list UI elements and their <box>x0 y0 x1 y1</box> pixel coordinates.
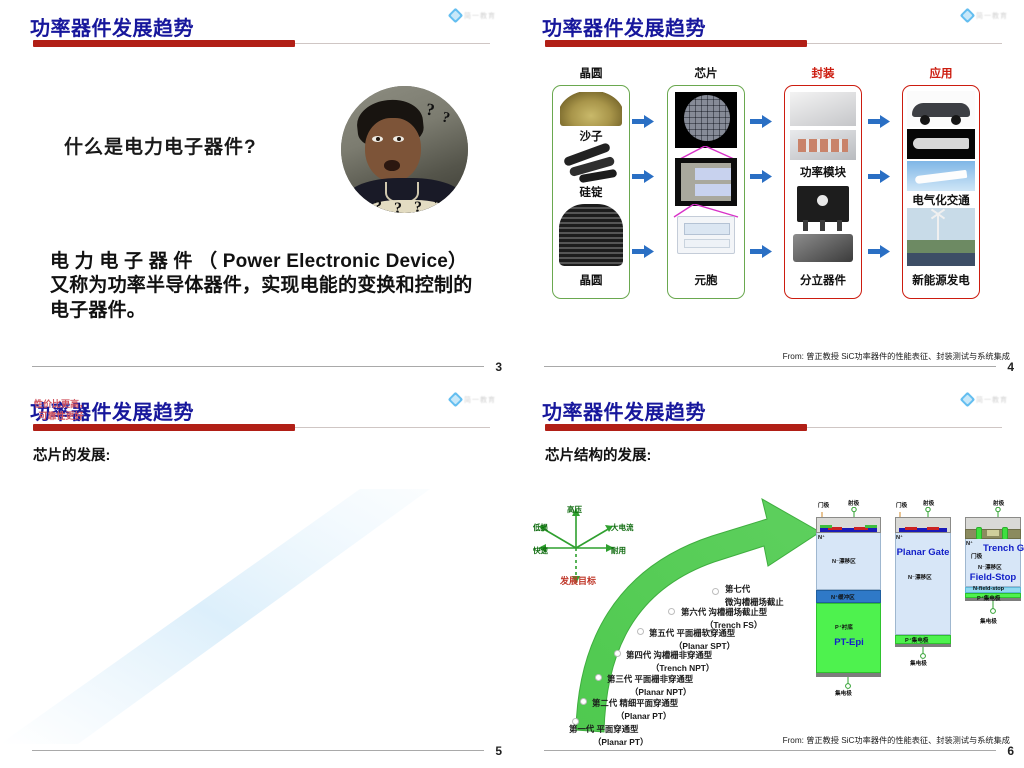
gen-dot-3 <box>595 674 602 681</box>
flow-arrow-5 <box>750 170 772 183</box>
gen-label-1-cn: 第一代 平面穿通型 <box>569 723 638 735</box>
watermark: 简一教育 <box>962 394 1008 405</box>
layer-field-stop-3: N-field-stop <box>973 586 1004 592</box>
caption-power-module: 功率模块 <box>785 164 861 180</box>
gen-label-7-cn: 第七代 <box>725 583 750 595</box>
to247-device-image <box>797 186 849 222</box>
callout-line-2: 可靠性更好 <box>38 410 83 422</box>
compass-label-low-loss: 低损 <box>533 522 548 533</box>
watermark: 简一教育 <box>450 10 496 21</box>
gem-icon <box>960 8 976 24</box>
gen-label-4-cn: 第四代 沟槽栅非穿通型 <box>626 649 712 661</box>
flow-column-title-wafer: 晶圆 <box>552 65 630 81</box>
slide-6[interactable]: 功率器件发展趋势 简一教育 芯片结构的发展: 高压 大电流 耐用 快速 低损 发… <box>512 384 1024 768</box>
subtitle: 芯片结构的发展: <box>545 444 651 465</box>
gem-icon <box>448 392 464 408</box>
caption-sand: 沙子 <box>553 128 629 144</box>
callout-line-1: 性价比更高， <box>34 398 88 410</box>
caption-discrete: 分立器件 <box>785 272 861 288</box>
source-credit: From: 曾正教授 SiC功率器件的性能表征、封装测试与系统集成 <box>783 350 1010 362</box>
wafer-die-map-image <box>675 92 737 148</box>
flow-box-application[interactable]: 电气化交通 新能源发电 <box>902 85 980 299</box>
layer-drift-2: N⁻漂移区 <box>908 573 932 581</box>
cell-structure-image <box>677 216 735 254</box>
page-number: 4 <box>1007 360 1014 374</box>
flow-arrow-1 <box>632 115 654 128</box>
question-text: 什么是电力电子器件? <box>64 132 257 159</box>
flow-arrow-4 <box>750 115 772 128</box>
cross-section-title-1: PT-Epi <box>823 637 875 648</box>
flow-arrow-6 <box>750 245 772 258</box>
watermark: 简一教育 <box>450 394 496 405</box>
terminal-gate-3: 门极 <box>971 552 982 560</box>
footer-rule <box>544 750 996 752</box>
diagonal-beam <box>0 434 512 754</box>
flow-column-title-chip: 芯片 <box>667 65 745 81</box>
flow-column-title-application: 应用 <box>902 65 980 81</box>
terminal-collector-3: 集电极 <box>980 617 997 625</box>
gen-label-5-cn: 第五代 平面栅软穿通型 <box>649 627 735 639</box>
cross-section-title-3: Trench Gate <box>983 543 1024 554</box>
header-accent-bar <box>545 40 807 47</box>
cross-section-subtitle-3: Field-Stop <box>965 572 1021 583</box>
discrete-device-image <box>793 234 853 262</box>
flow-column-title-package: 封装 <box>784 65 862 81</box>
wafer-stack-image <box>559 204 623 266</box>
slide-4[interactable]: 功率器件发展趋势 简一教育 晶圆 芯片 封装 应用 沙子 硅锭 晶圆 <box>512 0 1024 384</box>
airplane-image <box>907 161 975 191</box>
slide-5[interactable]: 功率器件发展趋势 简一教育 芯片的发展: 性价比更高， 可靠性更好 <box>0 384 512 768</box>
layer-tag-2: N⁺ <box>896 535 903 541</box>
flow-arrow-7 <box>868 115 890 128</box>
layer-tag-1: N⁺ <box>818 535 825 541</box>
header-accent-bar <box>33 40 295 47</box>
page-title: 功率器件发展趋势 <box>30 12 194 41</box>
caption-cell: 元胞 <box>668 272 744 288</box>
definition-text: 电 力 电 子 器 件 （ Power Electronic Device）又称… <box>50 250 480 323</box>
chip-die-image <box>675 158 737 206</box>
callout-text: 性价比更高， 可靠性更好 <box>0 384 122 436</box>
terminal-collector-2: 集电极 <box>910 659 927 667</box>
page-number: 6 <box>1007 744 1014 758</box>
watermark-label: 简一教育 <box>464 395 496 405</box>
watermark-label: 简一教育 <box>464 11 496 21</box>
terminal-emitter-1: 射极 <box>848 499 859 507</box>
flow-box-wafer[interactable]: 沙子 硅锭 晶圆 <box>552 85 630 299</box>
page-title: 功率器件发展趋势 <box>542 12 706 41</box>
gen-label-3-cn: 第三代 平面栅非穿通型 <box>607 673 693 685</box>
watermark: 简一教育 <box>962 10 1008 21</box>
layer-buffer-1: N⁺缓冲区 <box>831 593 855 601</box>
page-number: 5 <box>495 744 502 758</box>
terminal-emitter-2: 射极 <box>923 499 934 507</box>
watermark-label: 简一教育 <box>976 395 1008 405</box>
footer-rule <box>32 366 484 368</box>
header-accent-bar <box>545 424 807 431</box>
gen-dot-6 <box>668 608 675 615</box>
layer-substrate-1: P⁺衬底 <box>835 623 853 631</box>
gen-label-2-en: （Planar PT） <box>616 710 671 722</box>
gem-icon <box>448 8 464 24</box>
wind-solar-image <box>907 208 975 266</box>
gen-label-2-cn: 第二代 精细平面穿通型 <box>592 697 678 709</box>
footer-rule <box>544 366 996 368</box>
terminal-collector-1: 集电极 <box>835 689 852 697</box>
caption-electrified-transport: 电气化交通 <box>903 192 979 208</box>
caption-wafer: 晶圆 <box>553 272 629 288</box>
meme-image: ? ? ? ? ? ? <box>341 86 468 213</box>
gen-dot-4 <box>614 650 621 657</box>
gen-label-1-en: （Planar PT） <box>593 736 648 748</box>
sand-image <box>560 92 622 126</box>
page-title: 功率器件发展趋势 <box>542 396 706 425</box>
gen-label-6-cn: 第六代 沟槽栅场截止型 <box>681 606 767 618</box>
gen-dot-5 <box>637 628 644 635</box>
page-number: 3 <box>495 360 502 374</box>
gem-icon <box>960 392 976 408</box>
watermark-label: 简一教育 <box>976 11 1008 21</box>
flow-box-chip[interactable]: 元胞 <box>667 85 745 299</box>
source-credit: From: 曾正教授 SiC功率器件的性能表征、封装测试与系统集成 <box>783 734 1010 746</box>
layer-drift-1: N⁻漂移区 <box>832 557 856 565</box>
flow-box-package[interactable]: 功率模块 分立器件 <box>784 85 862 299</box>
caption-ingot: 硅锭 <box>553 184 629 200</box>
wirebond-module-image <box>790 92 856 126</box>
flow-arrow-8 <box>868 170 890 183</box>
caption-new-energy: 新能源发电 <box>903 272 979 288</box>
compass-label-fast: 快速 <box>533 545 548 556</box>
layer-collector-2: P⁺集电极 <box>905 636 928 644</box>
electric-car-image <box>907 91 975 127</box>
high-speed-train-image <box>907 129 975 159</box>
flow-arrow-2 <box>632 170 654 183</box>
flow-arrow-3 <box>632 245 654 258</box>
slide-3[interactable]: 功率器件发展趋势 简一教育 什么是电力电子器件? ? ? ? ? ? ? 电 力… <box>0 0 512 384</box>
gen-dot-2 <box>580 698 587 705</box>
cross-section-title-2: Planar Gate <box>895 547 951 558</box>
layer-tag-3: N⁺ <box>966 541 973 547</box>
layer-drift-3: N⁻漂移区 <box>978 563 1002 571</box>
slide-deck: 功率器件发展趋势 简一教育 什么是电力电子器件? ? ? ? ? ? ? 电 力… <box>0 0 1024 768</box>
footer-rule <box>32 750 484 752</box>
terminal-emitter-3: 射极 <box>993 499 1004 507</box>
gen-dot-7 <box>712 588 719 595</box>
flow-arrow-9 <box>868 245 890 258</box>
power-module-image <box>790 130 856 160</box>
